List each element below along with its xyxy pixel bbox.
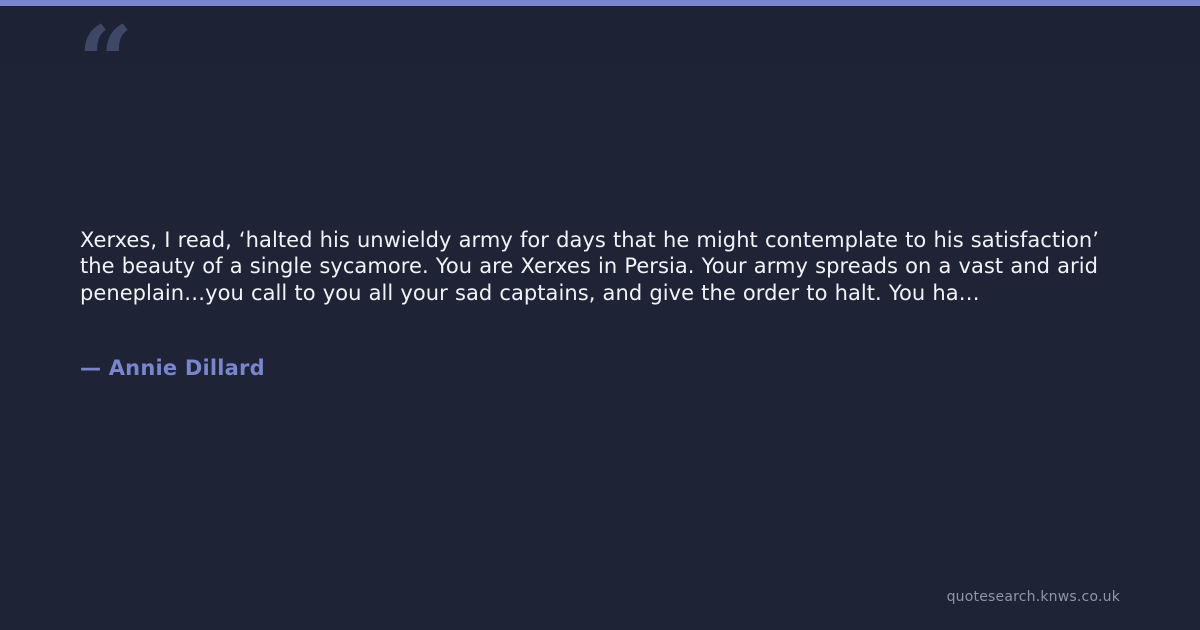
- quote-card-content: “ Xerxes, I read, ‘halted his unwieldy a…: [0, 0, 1200, 630]
- quote-card: “ Xerxes, I read, ‘halted his unwieldy a…: [0, 0, 1200, 630]
- source-site-url: quotesearch.knws.co.uk: [947, 589, 1120, 605]
- opening-quotation-mark-icon: “: [78, 14, 131, 110]
- quote-author-attribution: — Annie Dillard: [80, 355, 265, 381]
- quote-text: Xerxes, I read, ‘halted his unwieldy arm…: [80, 227, 1120, 306]
